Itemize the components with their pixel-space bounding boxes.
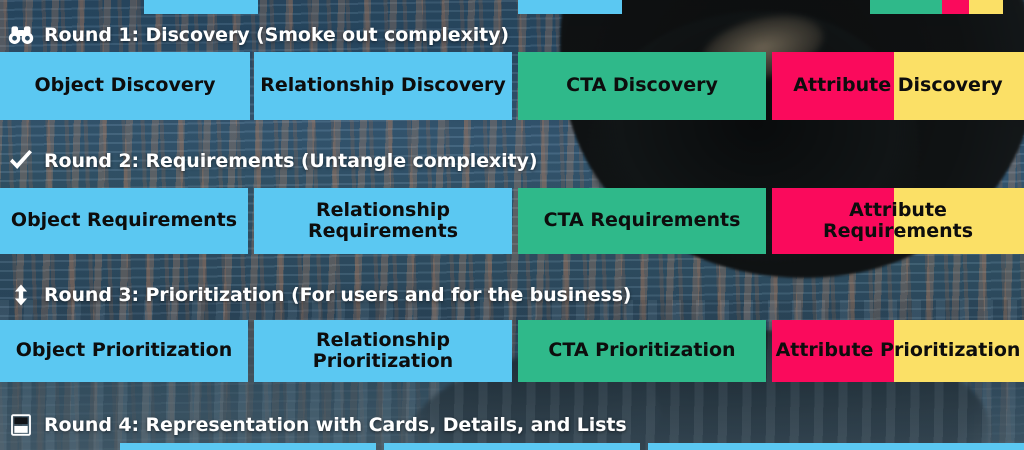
stub-card-blue-1 bbox=[144, 0, 258, 14]
bstub-spacer bbox=[376, 443, 384, 450]
round-label-3: Round 3: Prioritization (For users and f… bbox=[44, 284, 631, 306]
round-header-1: Round 1: Discovery (Smoke out complexity… bbox=[0, 20, 509, 50]
round-header-3: Round 3: Prioritization (For users and f… bbox=[0, 280, 631, 310]
stub-spacer bbox=[1003, 0, 1024, 14]
stub-card-pink bbox=[942, 0, 969, 14]
card-cta-discovery[interactable]: CTA Discovery bbox=[518, 52, 766, 120]
card-label: Attribute Requirements bbox=[772, 200, 1024, 243]
card-label: Attribute Discovery bbox=[772, 75, 1024, 96]
card-layout-icon bbox=[8, 412, 34, 438]
round-label-2: Round 2: Requirements (Untangle complexi… bbox=[44, 150, 537, 172]
bstub-card-blue-3 bbox=[648, 443, 1024, 450]
card-cta-requirements[interactable]: CTA Requirements bbox=[518, 188, 766, 254]
card-object-discovery[interactable]: Object Discovery bbox=[0, 52, 250, 120]
card-object-prioritization[interactable]: Object Prioritization bbox=[0, 320, 248, 382]
next-row-stubs bbox=[0, 443, 1024, 450]
card-relationship-discovery[interactable]: Relationship Discovery bbox=[254, 52, 512, 120]
card-label: Object Requirements bbox=[11, 210, 237, 231]
card-relationship-prioritization[interactable]: Relationship Prioritization bbox=[254, 320, 512, 382]
stub-card-green bbox=[870, 0, 942, 14]
stub-spacer bbox=[622, 0, 870, 14]
bstub-card-blue-1 bbox=[120, 443, 376, 450]
up-down-arrow-icon bbox=[8, 282, 34, 308]
bstub-card-blue-2 bbox=[384, 443, 640, 450]
card-label: Attribute Prioritization bbox=[772, 340, 1024, 361]
stub-spacer bbox=[258, 0, 518, 14]
stub-card-blue-2 bbox=[518, 0, 622, 14]
rounds-grid: Round 1: Discovery (Smoke out complexity… bbox=[0, 0, 1024, 450]
card-label: CTA Requirements bbox=[544, 210, 741, 231]
checkmark-icon bbox=[8, 148, 34, 174]
round-header-4: Round 4: Representation with Cards, Deta… bbox=[0, 410, 627, 440]
card-label: CTA Discovery bbox=[566, 75, 718, 96]
card-attribute-requirements[interactable]: Attribute Requirements bbox=[772, 188, 1024, 254]
round-label-1: Round 1: Discovery (Smoke out complexity… bbox=[44, 24, 509, 46]
bstub-spacer bbox=[640, 443, 648, 450]
round-header-2: Round 2: Requirements (Untangle complexi… bbox=[0, 146, 537, 176]
card-label: Relationship Prioritization bbox=[260, 330, 506, 373]
bstub-spacer bbox=[0, 443, 120, 450]
binoculars-icon bbox=[8, 22, 34, 48]
stub-spacer bbox=[0, 0, 144, 14]
card-attribute-prioritization[interactable]: Attribute Prioritization bbox=[772, 320, 1024, 382]
round-label-4: Round 4: Representation with Cards, Deta… bbox=[44, 414, 627, 436]
card-label: Relationship Discovery bbox=[260, 75, 506, 96]
card-label: Object Prioritization bbox=[16, 340, 233, 361]
card-relationship-requirements[interactable]: Relationship Requirements bbox=[254, 188, 512, 254]
slide-canvas: Round 1: Discovery (Smoke out complexity… bbox=[0, 0, 1024, 450]
card-label: Relationship Requirements bbox=[260, 200, 506, 243]
card-label: Object Discovery bbox=[34, 75, 215, 96]
card-row-2: Object Requirements Relationship Require… bbox=[0, 188, 1024, 254]
stub-card-yellow bbox=[969, 0, 1003, 14]
card-cta-prioritization[interactable]: CTA Prioritization bbox=[518, 320, 766, 382]
card-object-requirements[interactable]: Object Requirements bbox=[0, 188, 248, 254]
card-row-3: Object Prioritization Relationship Prior… bbox=[0, 320, 1024, 382]
card-label: CTA Prioritization bbox=[548, 340, 735, 361]
card-attribute-discovery[interactable]: Attribute Discovery bbox=[772, 52, 1024, 120]
previous-row-stubs bbox=[0, 0, 1024, 14]
card-row-1: Object Discovery Relationship Discovery … bbox=[0, 52, 1024, 120]
